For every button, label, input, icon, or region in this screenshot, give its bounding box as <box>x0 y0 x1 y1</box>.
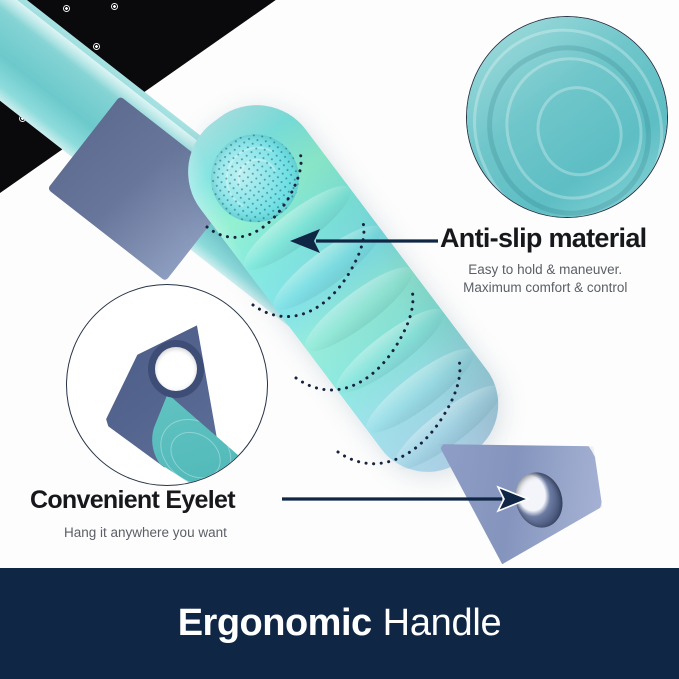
inset-grip-surface <box>466 16 668 218</box>
callout-anti-slip-subtitle-line1: Easy to hold & maneuver. <box>444 261 646 279</box>
inset-grip-texture <box>466 16 668 218</box>
callout-eyelet-title: Convenient Eyelet <box>30 485 235 515</box>
callout-anti-slip-subtitle: Easy to hold & maneuver. Maximum comfort… <box>440 261 646 296</box>
callout-anti-slip-title: Anti-slip material <box>440 222 646 254</box>
inset-hanging-hole <box>155 347 197 391</box>
bottom-banner: Ergonomic Handle <box>0 568 679 679</box>
infographic-canvas: Anti-slip material Easy to hold & maneuv… <box>0 0 679 679</box>
callout-eyelet-subtitle: Hang it anywhere you want <box>30 524 235 541</box>
callout-eyelet: Convenient Eyelet Hang it anywhere you w… <box>30 485 235 541</box>
callout-anti-slip-subtitle-line2: Maximum comfort & control <box>444 279 646 297</box>
banner-title-light: Handle <box>383 602 502 645</box>
callout-anti-slip: Anti-slip material Easy to hold & maneuv… <box>440 222 646 296</box>
banner-title-bold: Ergonomic <box>178 602 372 645</box>
inset-eyelet-detail <box>66 284 268 486</box>
